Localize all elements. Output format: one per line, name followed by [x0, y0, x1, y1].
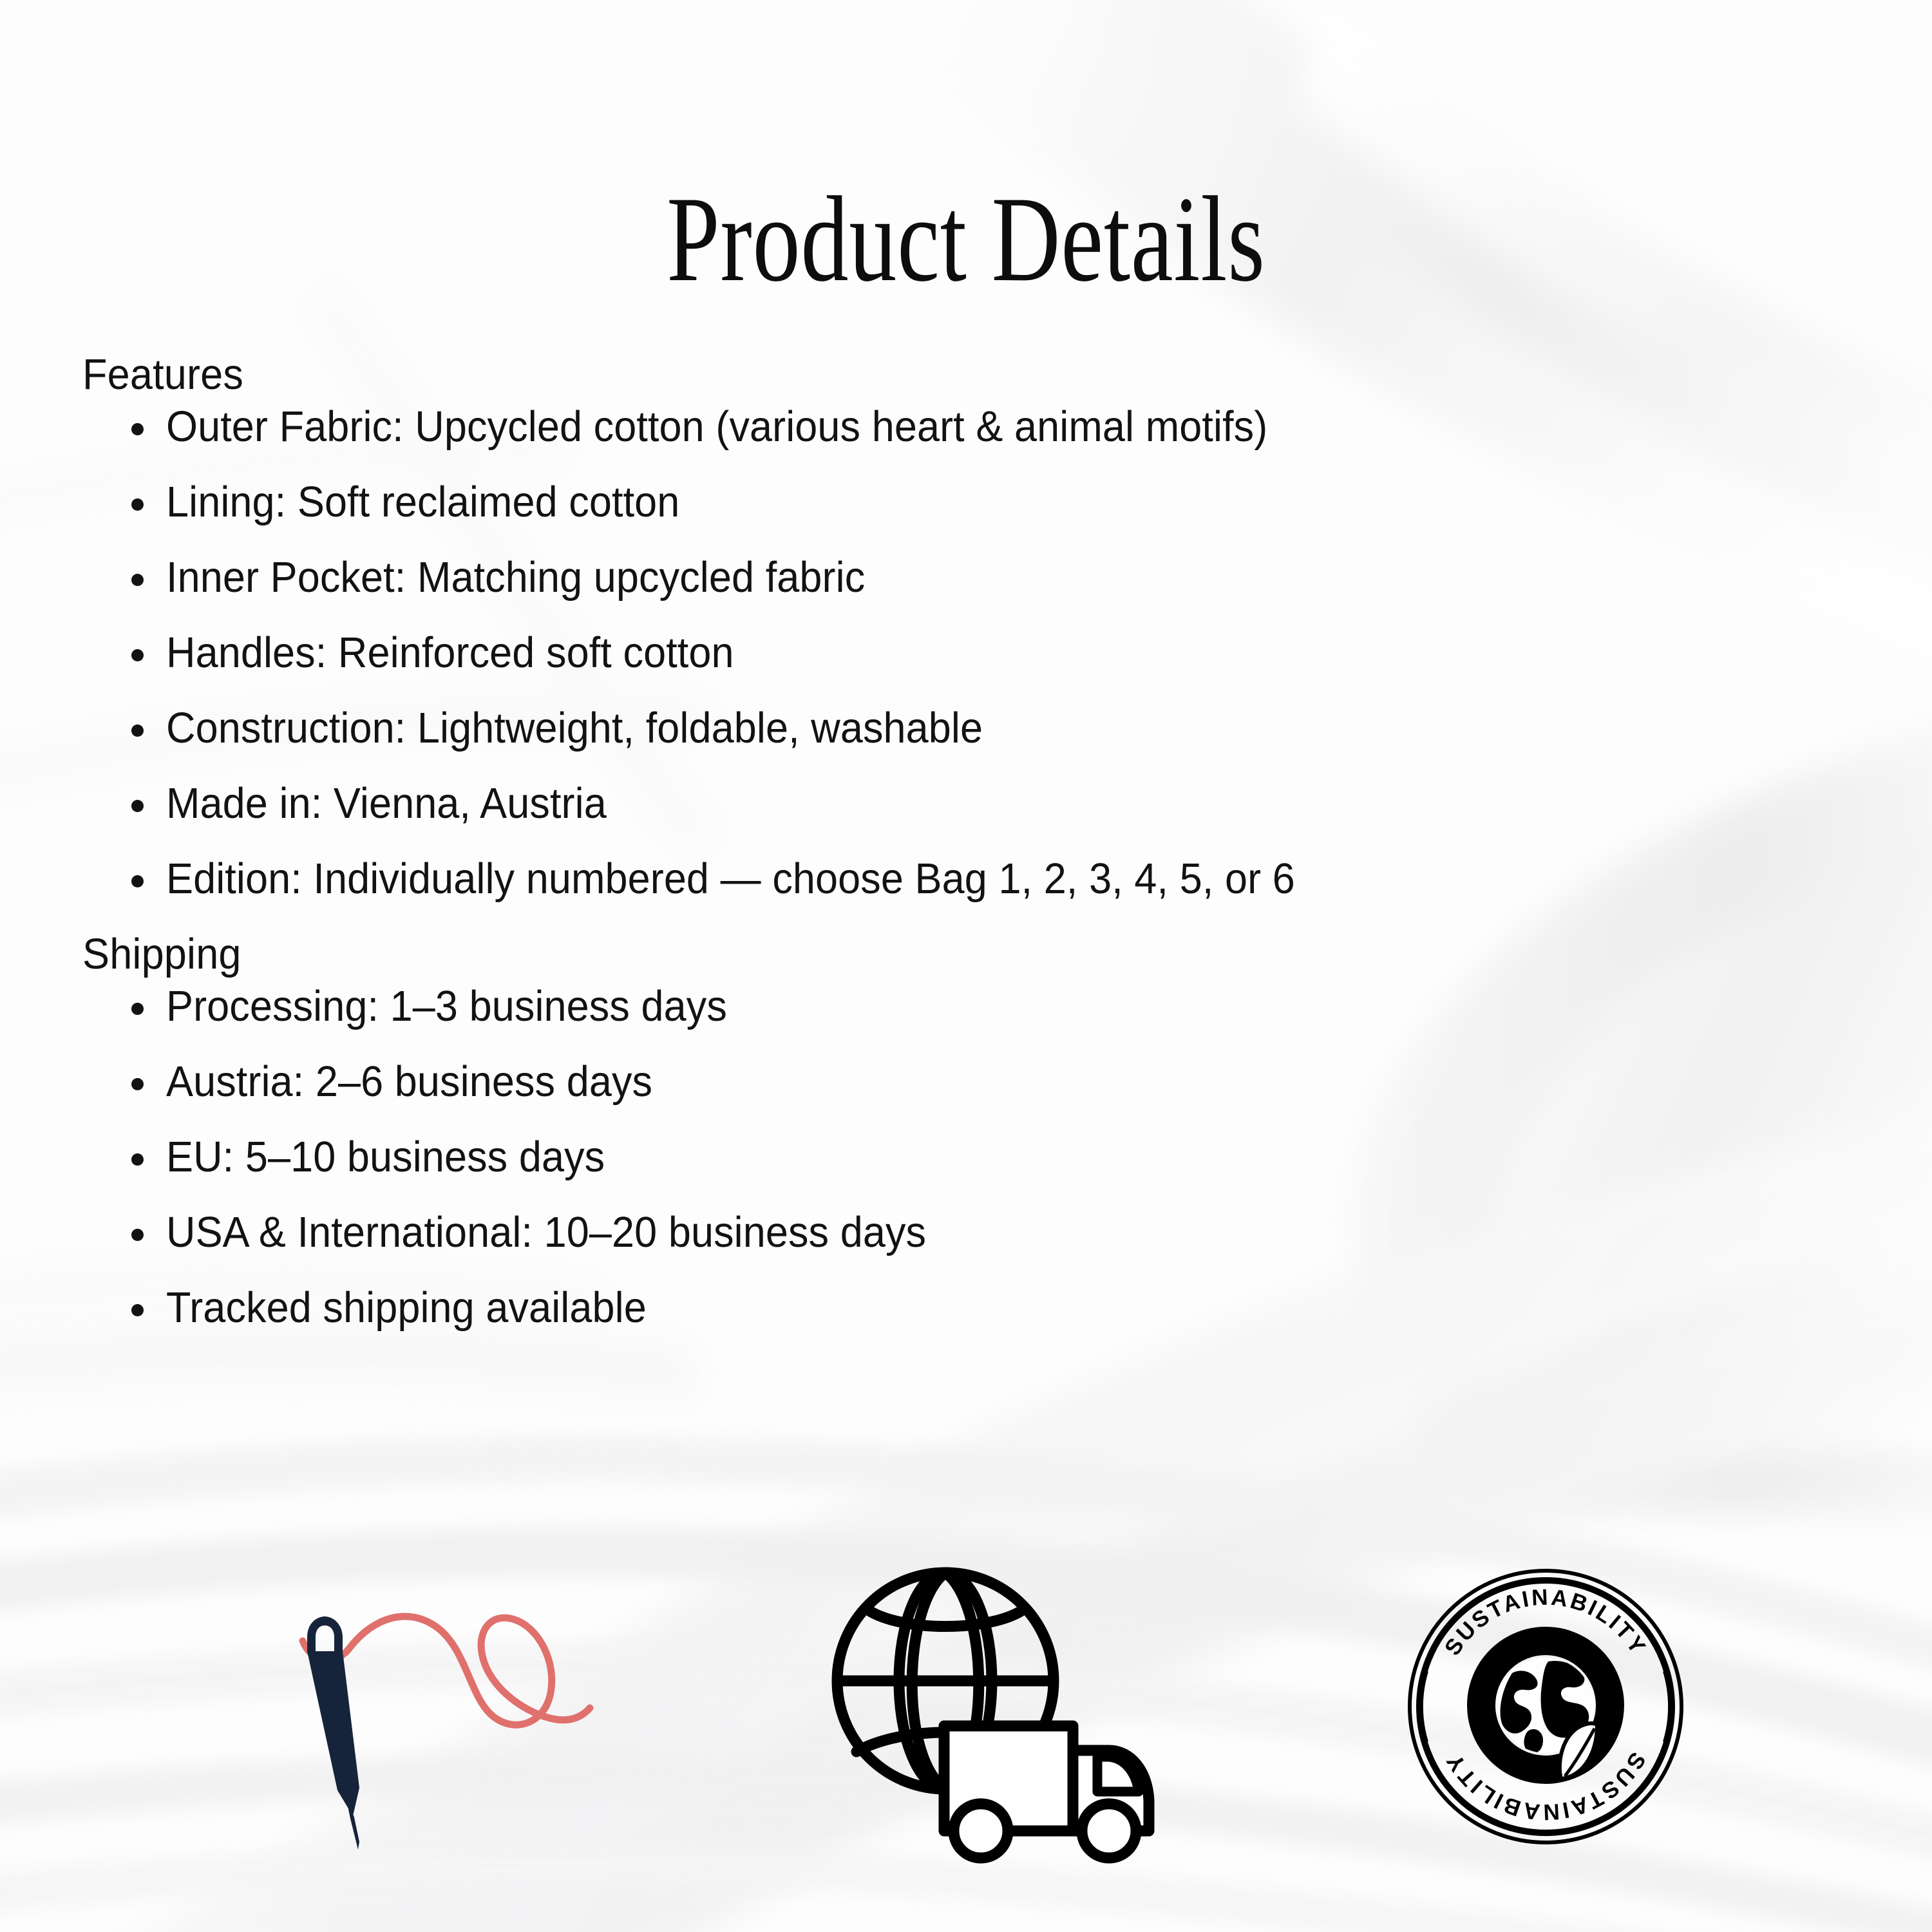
list-item: Edition: Individually numbered — choose … — [82, 857, 1860, 900]
section-features: Features Outer Fabric: Upcycled cotton (… — [82, 353, 1860, 900]
truck-rear-wheel — [954, 1804, 1008, 1858]
list-item: Austria: 2–6 business days — [82, 1060, 1860, 1103]
page-title: Product Details — [213, 178, 1719, 301]
needle-shape — [307, 1616, 359, 1850]
section-shipping: Shipping Processing: 1–3 business days A… — [82, 933, 1860, 1329]
list-item-text: Processing: 1–3 business days — [166, 985, 727, 1028]
list-item: Construction: Lightweight, foldable, was… — [82, 706, 1860, 750]
globe-parallel-top — [868, 1610, 1023, 1627]
product-details-page: Product Details Features Outer Fabric: U… — [0, 0, 1932, 1932]
list-item-text: Handles: Reinforced soft cotton — [166, 631, 734, 674]
badge-right-arc — [1665, 1671, 1670, 1742]
list-item-text: Tracked shipping available — [166, 1286, 647, 1329]
shipping-list: Processing: 1–3 business days Austria: 2… — [82, 985, 1860, 1329]
needle-and-thread-icon — [277, 1597, 612, 1874]
list-item: Processing: 1–3 business days — [82, 985, 1860, 1028]
list-item: Tracked shipping available — [82, 1286, 1860, 1329]
list-item-text: Outer Fabric: Upcycled cotton (various h… — [166, 405, 1267, 448]
badge-left-arc — [1421, 1671, 1426, 1742]
list-item: Lining: Soft reclaimed cotton — [82, 480, 1860, 524]
list-item: Made in: Vienna, Austria — [82, 782, 1860, 825]
list-item-text: Lining: Soft reclaimed cotton — [166, 480, 679, 524]
delivery-truck — [944, 1726, 1149, 1858]
list-item-text: EU: 5–10 business days — [166, 1135, 605, 1179]
list-item-text: Made in: Vienna, Austria — [166, 782, 607, 825]
list-item-text: Construction: Lightweight, foldable, was… — [166, 706, 983, 750]
details-body: Features Outer Fabric: Upcycled cotton (… — [82, 353, 1860, 1361]
truck-front-wheel — [1082, 1804, 1136, 1858]
globe-delivery-truck-icon — [831, 1565, 1166, 1887]
list-item-text: Inner Pocket: Matching upcycled fabric — [166, 556, 865, 599]
features-list: Outer Fabric: Upcycled cotton (various h… — [82, 405, 1860, 900]
list-item-text: Edition: Individually numbered — choose … — [166, 857, 1295, 900]
list-item: Inner Pocket: Matching upcycled fabric — [82, 556, 1860, 599]
section-heading-shipping: Shipping — [82, 933, 1753, 976]
list-item: EU: 5–10 business days — [82, 1135, 1860, 1179]
list-item-text: Austria: 2–6 business days — [166, 1060, 652, 1103]
list-item: USA & International: 10–20 business days — [82, 1211, 1860, 1254]
list-item-text: USA & International: 10–20 business days — [166, 1211, 926, 1254]
list-item: Handles: Reinforced soft cotton — [82, 631, 1860, 674]
section-heading-features: Features — [82, 353, 1753, 396]
list-item: Outer Fabric: Upcycled cotton (various h… — [82, 405, 1860, 448]
sustainability-badge-icon: SUSTAINABILITY SUSTAINABILITY — [1404, 1565, 1687, 1848]
